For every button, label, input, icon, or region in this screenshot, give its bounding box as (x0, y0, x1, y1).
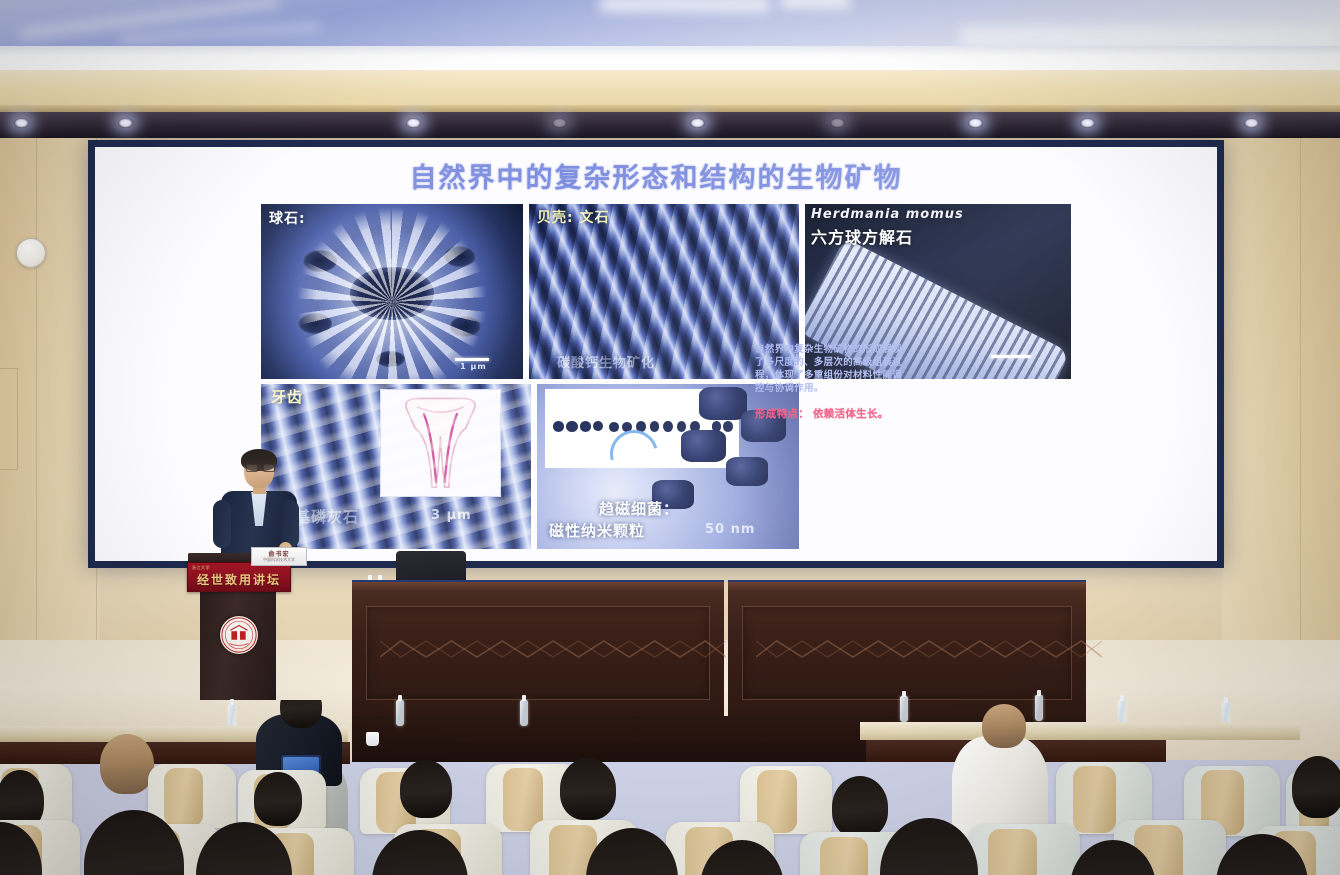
audience-member-head (1292, 756, 1340, 818)
panel-caption-shell: 贝壳: 文石 (537, 207, 609, 227)
slide-image-grid: 球石: 1 μm 贝壳: 文石 碳酸钙生物矿化 Herdmania momus … (261, 204, 1071, 549)
lectern-body (200, 590, 276, 700)
panel-subcaption-shell: 碳酸钙生物矿化 (557, 352, 655, 371)
panel-caption-magneto-1: 趋磁细菌： (599, 498, 679, 519)
tooth-diagram-icon (381, 390, 500, 496)
magnetosome-particle (681, 430, 726, 461)
lecture-hall-photo: 自然界中的复杂形态和结构的生物矿物 球石: 1 μm 贝壳: 文石 (0, 0, 1340, 875)
wall-speaker-icon (16, 238, 46, 268)
panel-caption-coccolith: 球石: (269, 208, 306, 228)
seat (968, 824, 1080, 875)
ceiling-spotlight (406, 118, 421, 128)
panel-teeth: 牙齿 羟基磷灰石 3 μm (261, 384, 531, 549)
ceiling-spotlight (830, 118, 845, 128)
speaker-nameplate: 俞书宏 中国科学技术大学 (251, 547, 307, 566)
presenter-arm-right (281, 500, 299, 548)
scale-bar (455, 358, 489, 361)
ceiling-white-band (0, 46, 1340, 70)
university-crest-icon (220, 616, 258, 654)
ceiling-spotlight (1080, 118, 1095, 128)
scale-bar (991, 355, 1031, 358)
audience-member-head (100, 734, 154, 794)
audience-member-head (400, 760, 452, 818)
glasses-icon (246, 464, 273, 470)
coccolith-core (350, 267, 434, 320)
ceiling-spotlight (968, 118, 983, 128)
audience-member-head (254, 772, 302, 826)
panel-caption-herdmania: 六方球方解石 (811, 224, 913, 248)
audience-area (0, 700, 1340, 875)
ceiling-spotlight (118, 118, 133, 128)
slide-title: 自然界中的复杂形态和结构的生物矿物 (95, 156, 1217, 195)
front-desk-ledge (860, 722, 1300, 740)
presenter-arm-left (213, 500, 231, 548)
slide-side-text: 自然界中复杂生物矿物的形成展现了多尺度的、多层次的高级组装过程，体现了多重组份对… (755, 343, 907, 421)
scale-bar-label: 1 μm (460, 362, 487, 371)
right-wall-panel (1222, 138, 1340, 698)
slide-side-body: 自然界中复杂生物矿物的形成展现了多尺度的、多层次的高级组装过程，体现了多重组份对… (755, 343, 907, 395)
audience-member-head (982, 704, 1026, 748)
panel-coccolith: 球石: 1 μm (261, 204, 523, 379)
lectern-banner: 浙江大学 经世致用讲坛 (187, 562, 291, 592)
scale-bar-label-teeth: 3 μm (431, 508, 472, 523)
ceiling-spotlight (14, 118, 29, 128)
slide-side-highlight: 形成特点： 依赖活体生长。 (755, 406, 907, 421)
audience-member-head (560, 758, 616, 820)
lectern: 浙江大学 经世致用讲坛 俞书宏 中国科学技术大学 (196, 553, 280, 700)
table-carving (380, 634, 726, 664)
crest-svg (220, 616, 258, 654)
ceiling-spotlight (552, 118, 567, 128)
panel-caption-magneto-2: 磁性纳米颗粒 (549, 520, 645, 541)
tooth-cross-section-inset (380, 389, 501, 497)
magnetosome-particle (726, 457, 768, 487)
stage-table-left (352, 588, 724, 716)
wall-access-panel (0, 368, 18, 470)
ceiling-spotlight (690, 118, 705, 128)
ceiling-light-rail (0, 112, 1340, 138)
presenter (215, 452, 301, 557)
ceiling-wood-band (0, 70, 1340, 112)
speaker-affiliation: 中国科学技术大学 (252, 557, 306, 563)
magnetosome-particle (699, 387, 746, 420)
ceiling-spotlight (1244, 118, 1259, 128)
scale-bar-label-magneto: 50 nm (705, 522, 755, 537)
lectern-banner-title: 经世致用讲坛 (188, 571, 290, 588)
table-carving (756, 634, 1102, 664)
audience-member-head (832, 776, 888, 838)
panel-caption-teeth: 牙齿 (271, 386, 303, 407)
panel-caption-herdmania-latin: Herdmania momus (811, 207, 964, 222)
